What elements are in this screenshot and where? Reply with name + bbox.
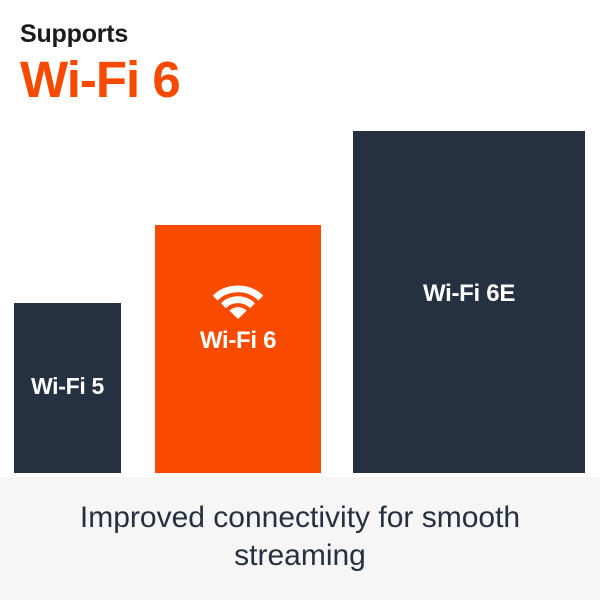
- bar-wifi-5: Wi-Fi 5: [14, 303, 121, 473]
- bar-wifi-5-label: Wi-Fi 5: [31, 373, 104, 400]
- bar-wifi-6e-label: Wi-Fi 6E: [423, 280, 515, 308]
- caption-text: Improved connectivity for smooth streami…: [65, 499, 535, 576]
- bar-wifi-6: Wi-Fi 6: [155, 225, 321, 473]
- bar-wifi-6-label: Wi-Fi 6: [200, 327, 276, 355]
- bar-wifi-6e-content: Wi-Fi 6E: [353, 131, 585, 473]
- wifi-infographic: Supports Wi-Fi 6 Wi-Fi 5 Wi-Fi 6: [0, 0, 600, 600]
- wifi-icon: [212, 281, 264, 319]
- bar-wifi-6-content: Wi-Fi 6: [155, 225, 321, 473]
- bar-wifi-5-content: Wi-Fi 5: [14, 303, 121, 473]
- bar-wifi-6e: Wi-Fi 6E: [353, 131, 585, 473]
- bar-chart: Wi-Fi 5 Wi-Fi 6 Wi-Fi 6E: [0, 0, 600, 477]
- caption-band: Improved connectivity for smooth streami…: [0, 477, 600, 600]
